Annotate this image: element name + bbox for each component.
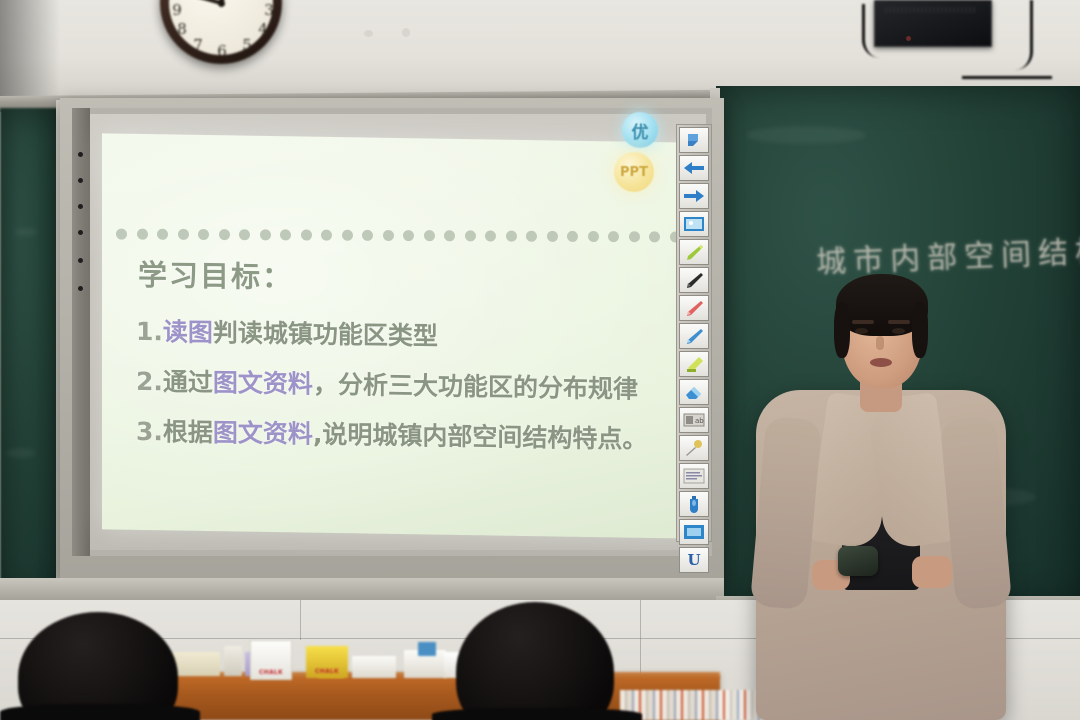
eraser-tool[interactable] xyxy=(679,379,709,405)
slide-border-dot xyxy=(157,229,168,240)
slide-border-dot xyxy=(198,229,209,240)
sensor-dot xyxy=(78,230,83,235)
objective-number: 3. xyxy=(136,417,163,446)
cable-left xyxy=(862,4,887,58)
teacher-presenter xyxy=(756,268,1006,720)
whiteboard-toolbar[interactable]: ab U xyxy=(676,124,712,542)
student-shoulder-left xyxy=(0,704,200,720)
teacher-brow-left xyxy=(852,320,874,324)
slide-border-dot xyxy=(444,230,455,241)
objective-pre: 通过 xyxy=(163,367,213,397)
svg-text:ab: ab xyxy=(695,417,704,425)
clock-numeral: 8 xyxy=(174,20,190,38)
chalk-smudge xyxy=(14,228,38,236)
objective-highlight: 图文资料 xyxy=(213,368,313,399)
highlighter-tool[interactable] xyxy=(679,351,709,377)
teacher-mouth xyxy=(870,358,892,367)
slide-border-dot xyxy=(546,231,557,242)
sensor-dot xyxy=(78,204,83,209)
chalk-smudge xyxy=(746,126,866,144)
slide-border-dot xyxy=(485,230,496,241)
slide-border-dot xyxy=(321,230,332,241)
slide-border-dot xyxy=(177,229,188,240)
objective-highlight: 图文资料 xyxy=(213,418,313,449)
wall-shadow xyxy=(0,0,60,104)
clock-numeral: 6 xyxy=(214,42,230,60)
slide-border-dot xyxy=(403,230,414,241)
blue-marker xyxy=(418,642,436,656)
classroom-scene: 12 1 2 3 4 5 6 7 8 9 10 11 城市内部空间结构 xyxy=(0,0,1080,720)
clock-numeral: 7 xyxy=(190,36,206,54)
text-tool[interactable] xyxy=(679,463,709,489)
slide-border-dot xyxy=(567,231,578,242)
chalk-box-label: CHALK xyxy=(251,669,291,676)
chalk-box-yellow: CHALK xyxy=(306,646,348,678)
wall-clock: 12 1 2 3 4 5 6 7 8 9 10 11 xyxy=(160,0,282,64)
clock-minute-hand xyxy=(182,0,222,5)
chalk-box-label: CHALK xyxy=(306,668,348,675)
clock-numeral: 5 xyxy=(239,36,255,54)
chalk-smudge xyxy=(6,448,36,458)
clock-numeral: 4 xyxy=(255,20,271,38)
objective-number: 2. xyxy=(136,367,163,396)
chalk-tray-box xyxy=(352,656,396,678)
slide-border-dot xyxy=(341,230,352,241)
sensor-dot xyxy=(78,178,83,183)
speaker-led xyxy=(906,36,911,41)
clock-numeral: 3 xyxy=(261,1,277,19)
slide-border-dot xyxy=(423,230,434,241)
teacher-eye-left xyxy=(855,328,868,334)
objective-post: ，分析三大功能区的分布规律 xyxy=(313,370,638,404)
slide-border-dot xyxy=(526,231,537,242)
slide-border-dot xyxy=(608,231,619,242)
wall-mark xyxy=(402,28,410,37)
app-logo-button[interactable]: U xyxy=(679,547,709,573)
chalkboard-left xyxy=(0,108,64,600)
wall-seam xyxy=(300,600,301,640)
clock-center-pin xyxy=(218,0,225,7)
cable-run xyxy=(962,40,1052,79)
slide-border-dot xyxy=(382,230,393,241)
sensor-dot xyxy=(78,258,83,263)
objective-highlight: 读图 xyxy=(163,317,213,347)
whiteboard-sensor-strip xyxy=(72,108,90,556)
objective-post: ,说明城镇内部空间结构特点。 xyxy=(313,420,648,454)
slide-border-dot xyxy=(116,229,127,240)
black-pen-tool[interactable] xyxy=(679,267,709,293)
slide-border-dot xyxy=(628,231,639,242)
blue-pen-tool[interactable] xyxy=(679,323,709,349)
slide-title: 学习目标： xyxy=(138,252,293,296)
slide-objective-1: 1.读图判读城镇功能区类型 xyxy=(136,312,438,353)
ink-bottle-tool[interactable] xyxy=(679,491,709,517)
slide-border-dot xyxy=(362,230,373,241)
teacher-hair-right xyxy=(912,302,928,358)
projected-slide: 学习目标： 1.读图判读城镇功能区类型 2.通过图文资料，分析三大功能区的分布规… xyxy=(102,133,694,538)
whiteboard-tool[interactable] xyxy=(679,519,709,545)
you-badge[interactable]: 优 xyxy=(622,112,658,148)
wall-mark xyxy=(364,30,373,37)
slide-border-dot xyxy=(239,229,250,240)
ppt-badge[interactable]: PPT xyxy=(614,152,654,192)
slide-border-dot xyxy=(649,231,660,242)
chalk-holder xyxy=(224,646,242,676)
objective-pre: 根据 xyxy=(163,417,213,447)
speaker-grille xyxy=(885,7,977,13)
chalk-box-white: CHALK xyxy=(250,640,292,680)
teacher-eye-right xyxy=(892,328,905,334)
slide-border-dot xyxy=(218,229,229,240)
slide-border-dot xyxy=(505,231,516,242)
sensor-dot xyxy=(78,286,83,291)
teacher-hair-left xyxy=(834,302,850,358)
objective-number: 1. xyxy=(136,317,163,346)
slide-border-dot xyxy=(280,229,291,240)
objective-post: 判读城镇功能区类型 xyxy=(213,318,438,351)
teacher-brow-right xyxy=(888,320,910,324)
sensor-dot xyxy=(78,152,83,157)
forward-arrow-tool[interactable] xyxy=(679,183,709,209)
screen-capture-tool[interactable] xyxy=(679,211,709,237)
green-pen-tool[interactable] xyxy=(679,239,709,265)
clock-numeral: 9 xyxy=(169,1,185,19)
shape-tool[interactable]: ab xyxy=(679,407,709,433)
slide-border-dot xyxy=(587,231,598,242)
select-tool[interactable] xyxy=(679,127,709,153)
slide-border-dot xyxy=(300,230,311,241)
slide-border-dot xyxy=(464,230,475,241)
red-pen-tool[interactable] xyxy=(679,295,709,321)
back-arrow-tool[interactable] xyxy=(679,155,709,181)
student-shoulder-center xyxy=(432,708,642,720)
slide-border-dot xyxy=(136,229,147,240)
presenter-clicker[interactable] xyxy=(838,546,878,576)
slide-border-dot xyxy=(259,229,270,240)
spotlight-tool[interactable] xyxy=(679,435,709,461)
slide-dot-border xyxy=(116,229,684,246)
app-logo-label: U xyxy=(687,551,700,569)
teacher-hand-right xyxy=(912,556,952,588)
teacher-nose xyxy=(876,336,884,350)
